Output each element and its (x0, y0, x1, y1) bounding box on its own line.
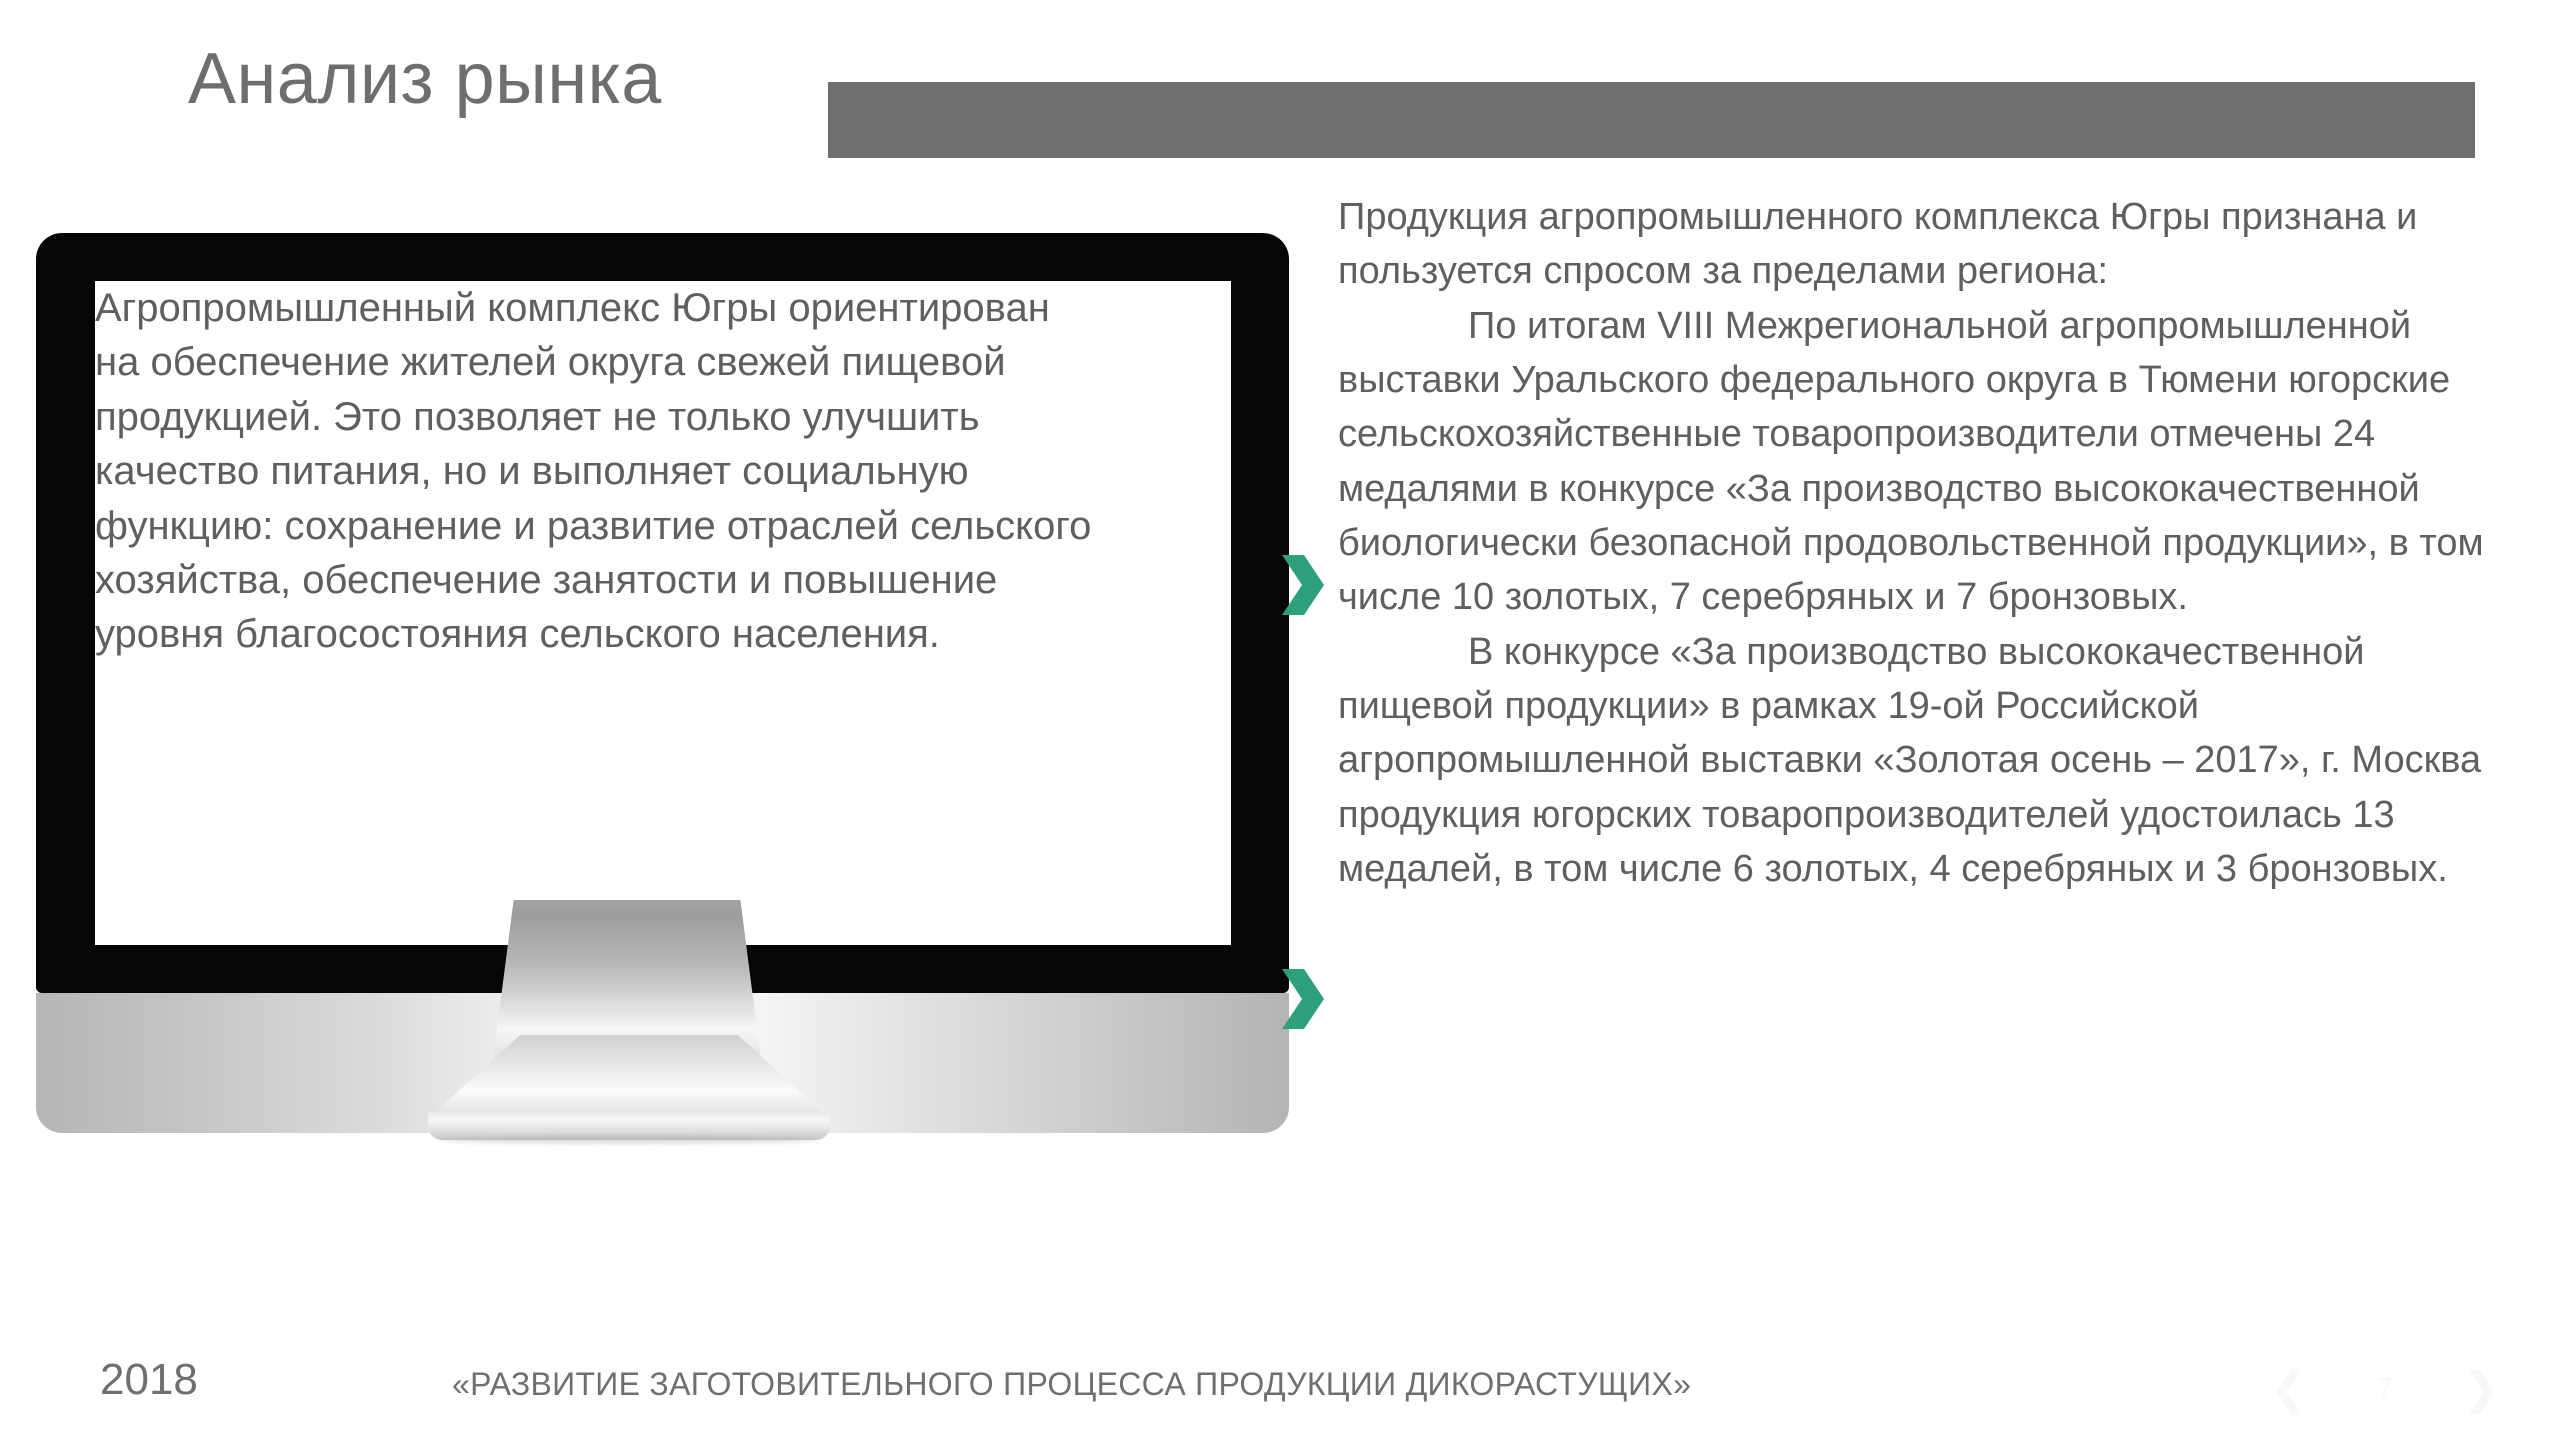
bullet-paragraph-1: По итогам VIII Межрегиональной агропромы… (1338, 299, 2513, 625)
chevron-right-icon (1280, 553, 1326, 617)
monitor-stand-shadow (438, 1136, 820, 1144)
page-title: Анализ рынка (188, 42, 662, 118)
slide-number: 7 (2377, 1372, 2393, 1404)
slide-canvas: Анализ рынка Агропромышленный комплекс Ю… (0, 0, 2560, 1440)
previous-slide-icon[interactable]: ❮ (2270, 1365, 2309, 1411)
footer-year: 2018 (100, 1355, 198, 1405)
monitor-screen-text: Агропромышленный комплекс Югры ориентиро… (95, 281, 1105, 662)
chevron-right-icon (1280, 967, 1326, 1031)
right-intro-paragraph: Продукция агропромышленного комплекса Юг… (1338, 190, 2513, 299)
slide-pager[interactable]: ❮ 7 ❯ (2270, 1358, 2500, 1418)
next-slide-icon[interactable]: ❯ (2461, 1365, 2500, 1411)
footer-caption: «РАЗВИТИЕ ЗАГОТОВИТЕЛЬНОГО ПРОЦЕССА ПРОД… (452, 1366, 1691, 1403)
bullet-paragraph-2: В конкурсе «За производство высококачест… (1338, 625, 2513, 897)
title-accent-bar (828, 82, 2475, 158)
right-text-column: Продукция агропромышленного комплекса Юг… (1338, 190, 2513, 896)
